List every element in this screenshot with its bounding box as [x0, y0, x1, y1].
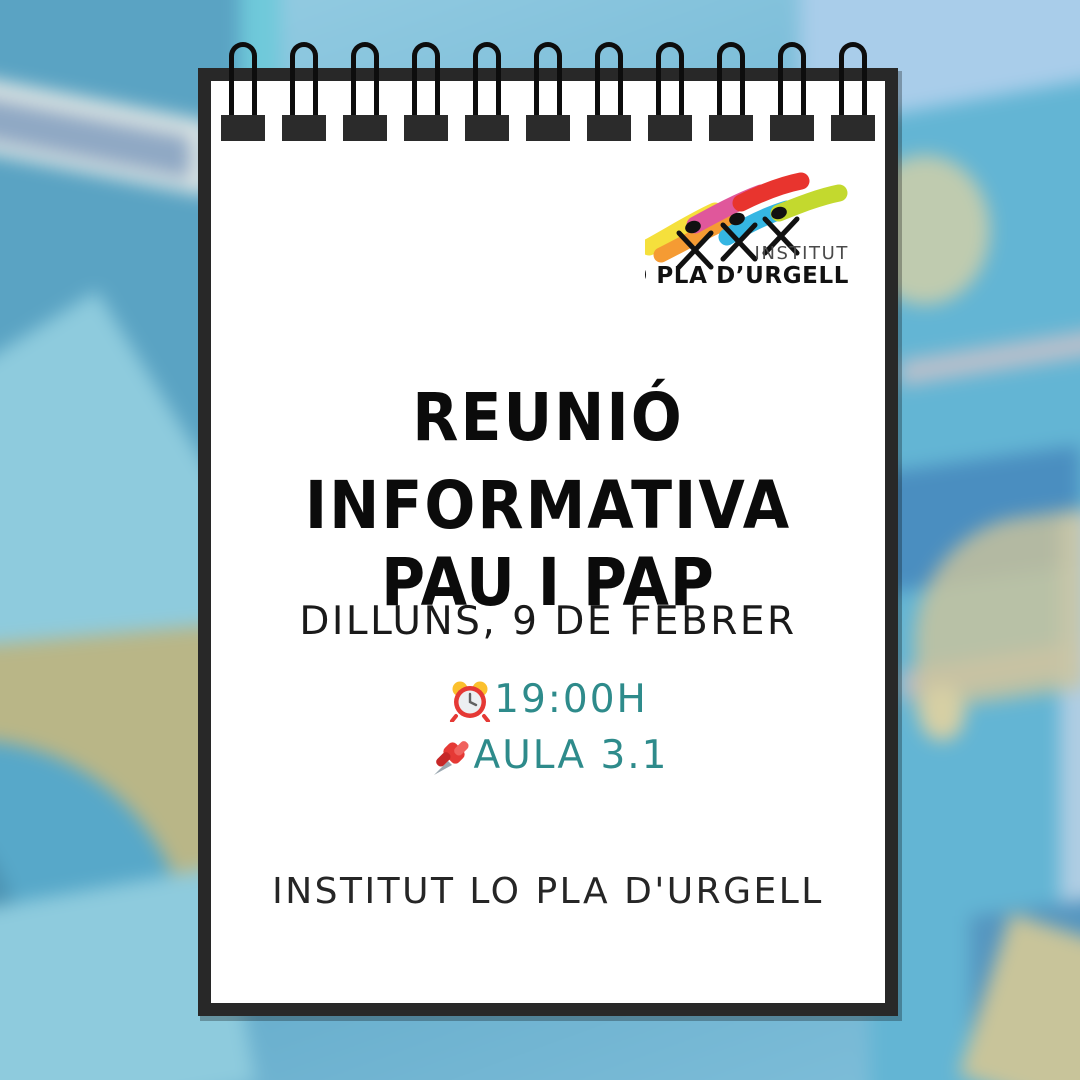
- logo-institut-text: INSTITUT: [755, 243, 849, 264]
- school-logo: INSTITUT LO PLA D’URGELL: [645, 163, 855, 288]
- background-shape-right-small-circle: [919, 685, 965, 741]
- headline-line-1: REUNIÓ INFORMATIVA: [211, 374, 885, 551]
- event-poster: INSTITUT LO PLA D’URGELL REUNIÓ INFORMAT…: [0, 0, 1080, 1080]
- event-location-value: AULA 3.1: [474, 728, 669, 785]
- poster-headline: REUNIÓ INFORMATIVA PAU I PAP: [211, 382, 885, 623]
- event-details: DILLUNS, 9 DE FEBRER 19:00H: [211, 599, 885, 785]
- event-location-row: AULA 3.1: [211, 728, 885, 785]
- pushpin-icon: [428, 735, 472, 779]
- event-date: DILLUNS, 9 DE FEBRER: [211, 599, 885, 646]
- logo-school-name-text: LO PLA D’URGELL: [645, 263, 849, 288]
- event-time-value: 19:00H: [494, 672, 648, 729]
- alarm-clock-icon: [448, 678, 492, 722]
- notepad-card: INSTITUT LO PLA D’URGELL REUNIÓ INFORMAT…: [198, 68, 898, 1016]
- footer-organization: INSTITUT LO PLA D'URGELL: [211, 871, 885, 912]
- poster-content: INSTITUT LO PLA D’URGELL REUNIÓ INFORMAT…: [211, 81, 885, 1003]
- event-time-row: 19:00H: [211, 672, 885, 729]
